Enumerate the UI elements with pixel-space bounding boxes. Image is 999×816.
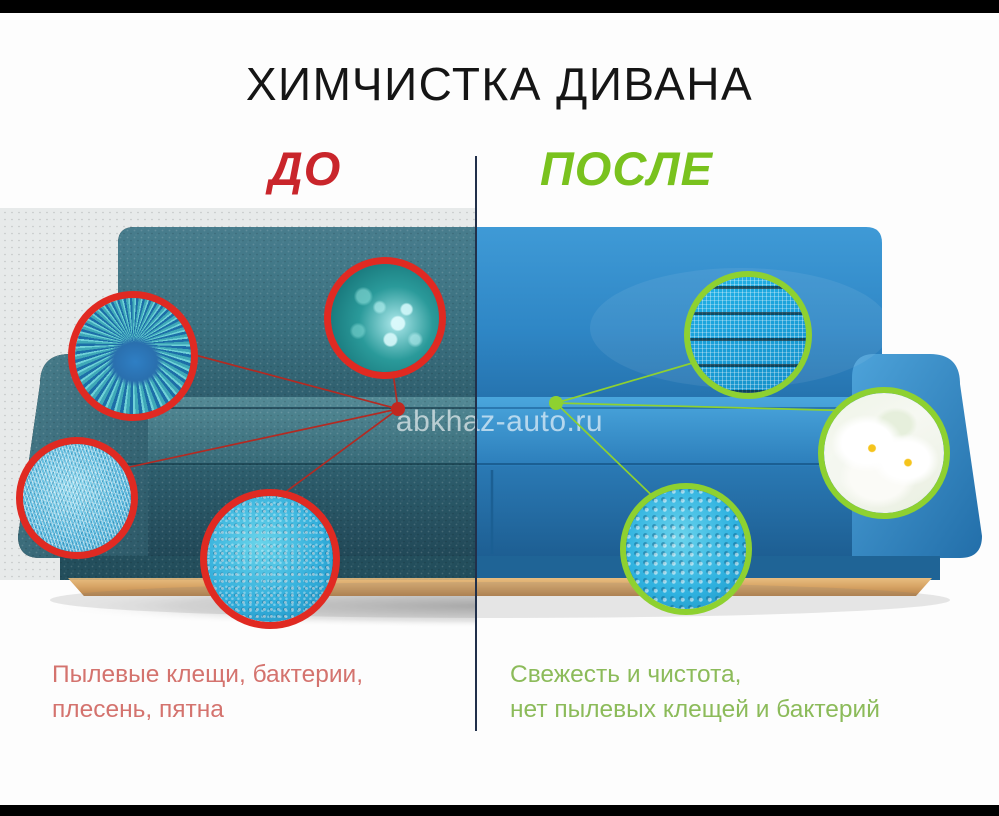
caption-after-line-2: нет пылевых клещей и бактерий (510, 693, 980, 728)
soiled-fabric-micrograph (207, 496, 333, 622)
callout-soiled-fabric (200, 489, 340, 629)
caption-before: Пылевые клещи, бактерии, плесень, пятна (52, 658, 452, 728)
clean-knit-micrograph (626, 489, 746, 609)
fresh-flowers-image (824, 393, 944, 513)
label-before: ДО (190, 141, 420, 196)
callout-dust-mite (68, 291, 198, 421)
page-title: ХИМЧИСТКА ДИВАНА (0, 57, 999, 111)
callout-bacteria-colony (324, 257, 446, 379)
before-after-divider (475, 156, 477, 731)
label-after: ПОСЛЕ (540, 141, 860, 196)
letterbox-bottom (0, 805, 999, 816)
callout-fresh-flowers (818, 387, 950, 519)
poster-canvas: ХИМЧИСТКА ДИВАНА ДО ПОСЛЕ (0, 13, 999, 805)
caption-after: Свежесть и чистота, нет пылевых клещей и… (510, 658, 980, 728)
caption-before-line-2: плесень, пятна (52, 693, 452, 728)
callout-mold-fibers (16, 437, 138, 559)
poster-root: ХИМЧИСТКА ДИВАНА ДО ПОСЛЕ (0, 0, 999, 816)
caption-before-line-1: Пылевые клещи, бактерии, (52, 658, 452, 693)
dust-mite-micrograph (75, 298, 191, 414)
letterbox-top (0, 0, 999, 13)
callout-clean-knit (620, 483, 752, 615)
bacteria-micrograph (331, 264, 439, 372)
clean-weave-micrograph (690, 277, 806, 393)
caption-after-line-1: Свежесть и чистота, (510, 658, 980, 693)
callout-clean-weave (684, 271, 812, 399)
mold-fiber-micrograph (23, 444, 131, 552)
